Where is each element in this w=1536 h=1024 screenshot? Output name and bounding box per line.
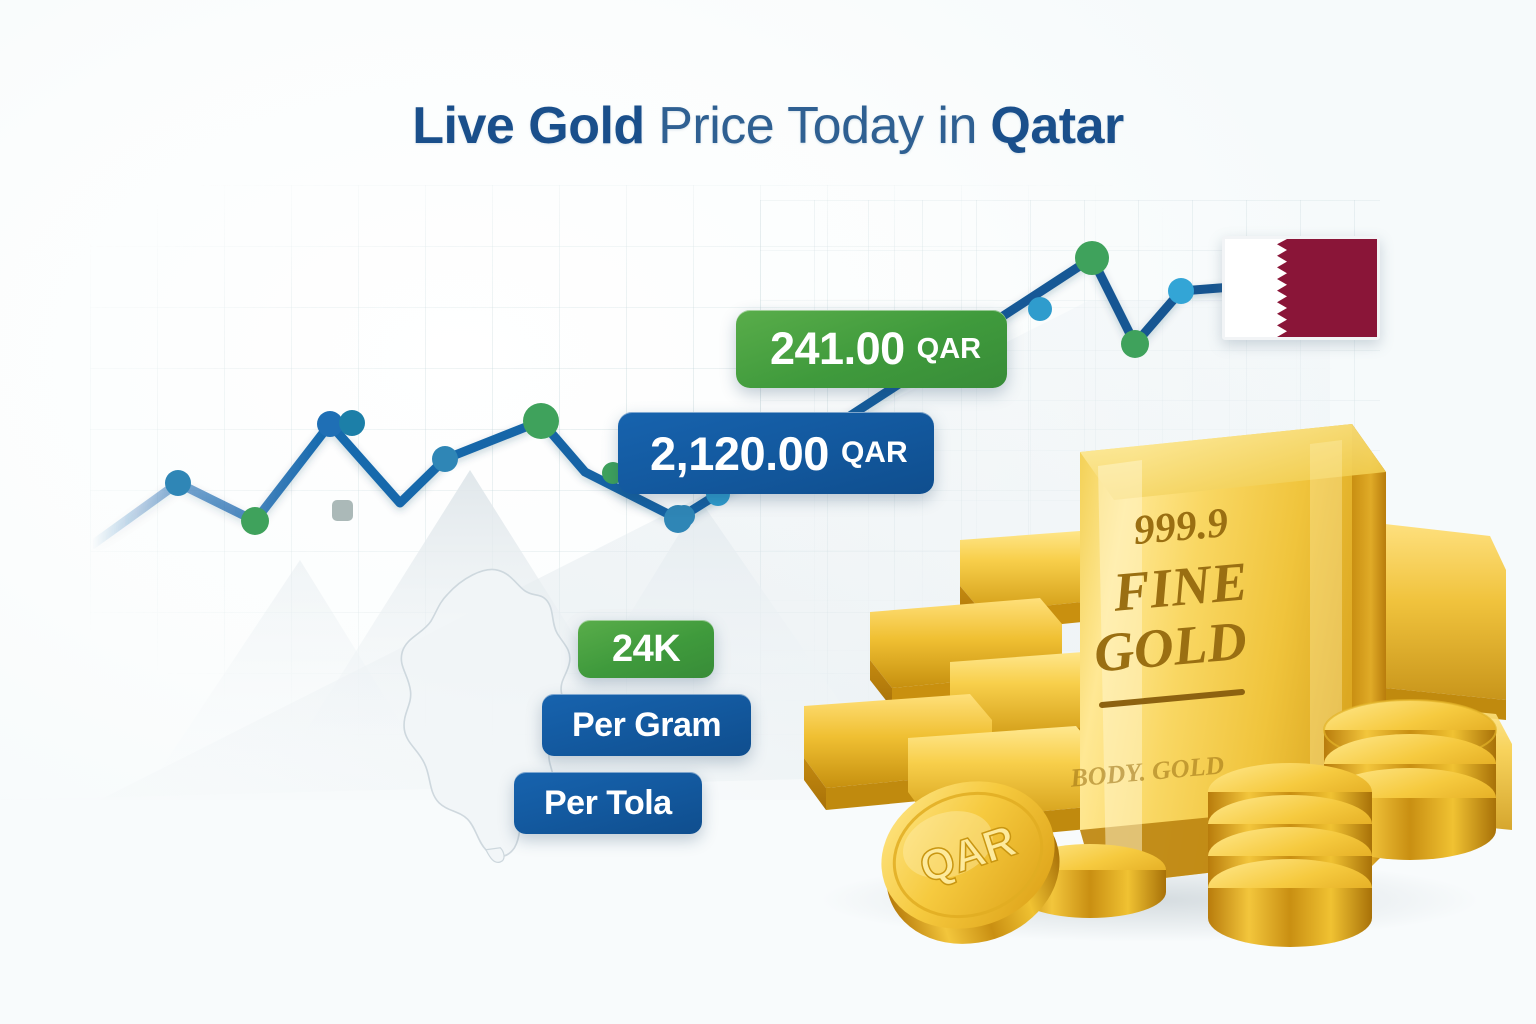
title-bold-live-gold: Live Gold <box>412 97 644 155</box>
unit-per-tola-badge[interactable]: Per Tola <box>514 772 702 834</box>
price-per-tola-currency: QAR <box>841 436 908 470</box>
price-per-gram-value: 241.00 <box>770 323 905 375</box>
gold-coin-stack-center <box>1208 763 1372 947</box>
price-per-tola-value: 2,120.00 <box>650 426 829 481</box>
karat-label: 24K <box>612 628 680 671</box>
unit-per-gram-badge[interactable]: Per Gram <box>542 694 751 756</box>
title-bold-qatar: Qatar <box>990 97 1123 155</box>
title-regular-middle: Price Today in <box>658 97 977 155</box>
karat-badge[interactable]: 24K <box>578 620 714 678</box>
unit-per-gram-label: Per Gram <box>572 706 721 745</box>
unit-per-tola-label: Per Tola <box>544 784 672 823</box>
price-per-gram-badge[interactable]: 241.00 QAR <box>736 310 1007 388</box>
bar-purity-text: 999.9 <box>1132 500 1230 554</box>
page-title: Live GoldPrice Today inQatar <box>0 96 1536 156</box>
poster-canvas: Live GoldPrice Today inQatar <box>0 0 1536 1024</box>
price-per-tola-badge[interactable]: 2,120.00 QAR <box>618 412 934 494</box>
price-per-gram-currency: QAR <box>917 333 981 366</box>
qatar-flag <box>1222 236 1380 340</box>
